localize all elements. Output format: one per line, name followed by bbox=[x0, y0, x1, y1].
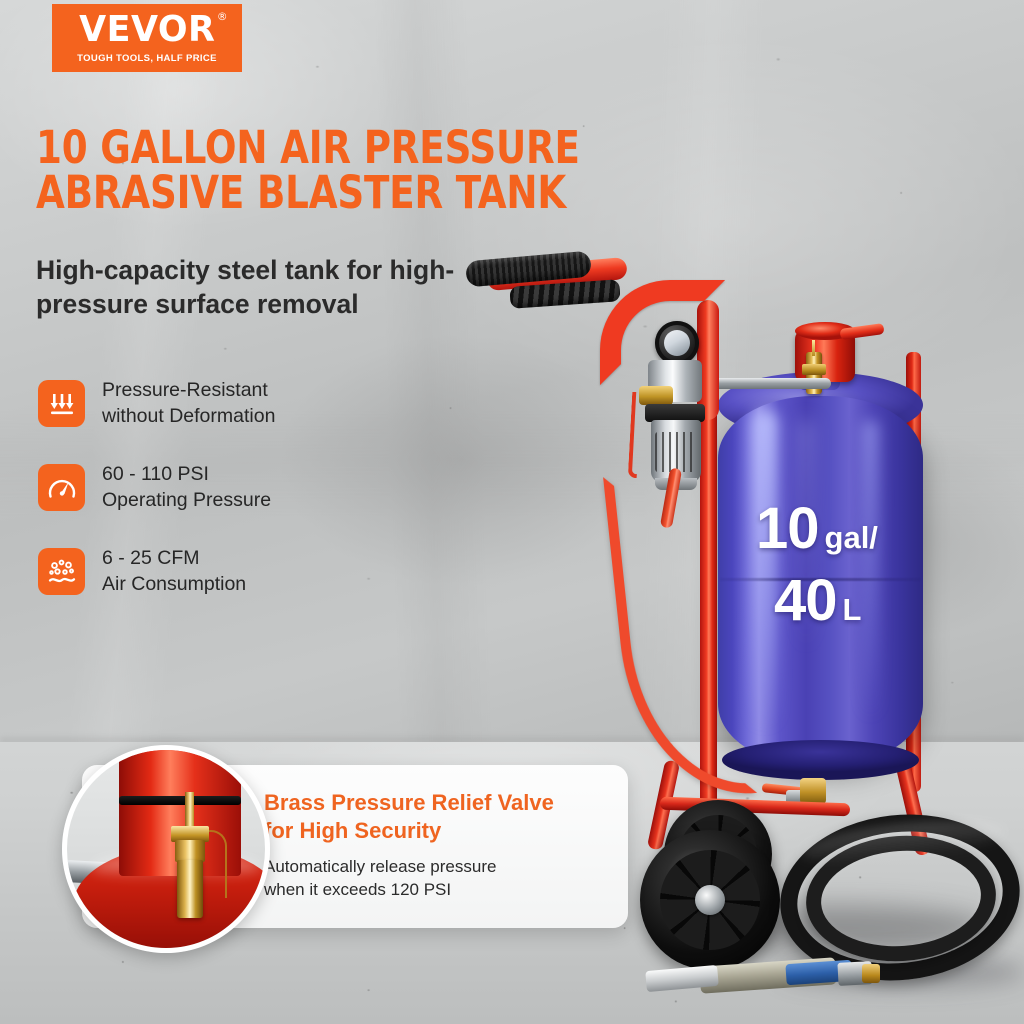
ball-valve-body bbox=[800, 778, 826, 804]
vevor-logo-text: VEVOR bbox=[79, 9, 215, 50]
feature-2-line-1: 60 - 110 PSI bbox=[102, 462, 271, 488]
feature-text-pressure-resistant: Pressure-Resistant without Deformation bbox=[102, 378, 275, 430]
feature-2-line-2: Operating Pressure bbox=[102, 488, 271, 514]
pressure-gauge-face bbox=[664, 330, 690, 356]
subhead-line-1: High-capacity steel tank bbox=[36, 255, 339, 285]
feature-1-line-2: without Deformation bbox=[102, 404, 275, 430]
headline-line-2: ABRASIVE BLASTER TANK bbox=[36, 171, 625, 216]
gauge-icon bbox=[38, 464, 85, 511]
feature-item-pressure-resistant: Pressure-Resistant without Deformation bbox=[38, 378, 378, 430]
brass-relief-valve-pin bbox=[812, 340, 815, 356]
callout-text-block: Brass Pressure Relief Valve for High Sec… bbox=[264, 789, 614, 901]
capacity-liters-value: 40 bbox=[774, 572, 837, 630]
callout-sub-line-1: Automatically release pressure bbox=[264, 856, 614, 878]
wheel-front-hub bbox=[695, 885, 725, 915]
product-banner: 10 gal/ 40 L bbox=[0, 0, 1024, 1024]
capacity-liters-unit: L bbox=[843, 594, 862, 625]
air-bubbles-icon bbox=[38, 548, 85, 595]
page-title: 10 GALLON AIR PRESSURE ABRASIVE BLASTER … bbox=[36, 126, 625, 215]
vevor-logo-wordmark: VEVOR ® bbox=[79, 12, 215, 48]
feature-item-operating-pressure: 60 - 110 PSI Operating Pressure bbox=[38, 462, 378, 514]
brass-relief-valve-nut bbox=[802, 364, 826, 375]
callout-sub-line-2: when it exceeds 120 PSI bbox=[264, 879, 614, 901]
inset-valve-barrel bbox=[177, 860, 203, 918]
capacity-gallons-row: 10 gal/ bbox=[756, 500, 936, 558]
vevor-logo[interactable]: VEVOR ® TOUGH TOOLS, HALF PRICE bbox=[52, 4, 242, 72]
page-subtitle: High-capacity steel tank for high-pressu… bbox=[36, 253, 556, 322]
regulator-red-clip bbox=[628, 392, 641, 478]
feature-item-air-consumption: 6 - 25 CFM Air Consumption bbox=[38, 546, 378, 598]
capacity-liters-row: 40 L bbox=[774, 572, 936, 630]
callout-description: Automatically release pressure when it e… bbox=[264, 856, 614, 901]
inset-valve-hex bbox=[175, 840, 205, 862]
pressure-arrows-icon bbox=[38, 380, 85, 427]
feature-3-line-1: 6 - 25 CFM bbox=[102, 546, 246, 572]
feature-3-line-2: Air Consumption bbox=[102, 572, 246, 598]
vevor-logo-tagline: TOUGH TOOLS, HALF PRICE bbox=[77, 53, 217, 64]
registered-trademark-icon: ® bbox=[217, 11, 228, 22]
tank-capacity-label: 10 gal/ 40 L bbox=[756, 500, 936, 630]
wheel-front bbox=[640, 830, 780, 970]
callout-inset-photo bbox=[62, 745, 270, 953]
feature-list: Pressure-Resistant without Deformation 6… bbox=[38, 378, 378, 630]
regulator-brass-knob bbox=[639, 386, 673, 405]
feature-text-air-consumption: 6 - 25 CFM Air Consumption bbox=[102, 546, 246, 598]
feature-text-operating-pressure: 60 - 110 PSI Operating Pressure bbox=[102, 462, 271, 514]
capacity-gallons-unit: gal/ bbox=[825, 522, 878, 553]
callout-title-line-1: Brass Pressure Relief Valve bbox=[264, 789, 614, 817]
callout-title: Brass Pressure Relief Valve for High Sec… bbox=[264, 789, 614, 845]
callout-title-line-2: for High Security bbox=[264, 817, 614, 845]
inset-cap-band bbox=[119, 796, 241, 805]
blaster-gun-brass-fitting bbox=[862, 964, 880, 983]
filter-bowl-slots bbox=[655, 432, 697, 472]
feature-1-line-1: Pressure-Resistant bbox=[102, 378, 275, 404]
capacity-gallons-value: 10 bbox=[756, 500, 819, 558]
